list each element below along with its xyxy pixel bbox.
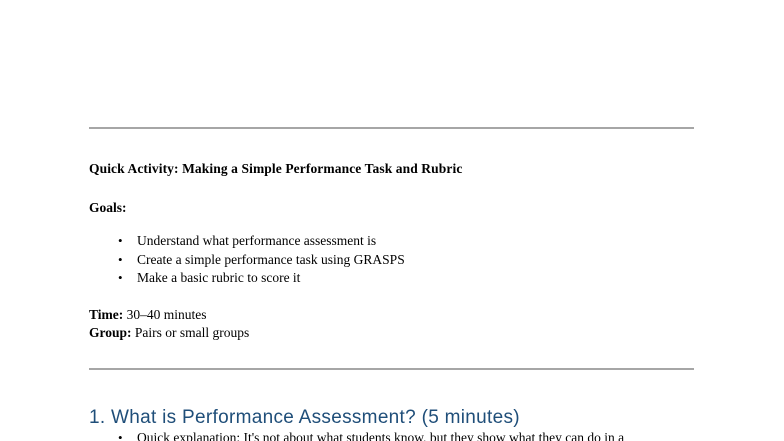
meta-group-value: Pairs or small groups (132, 325, 250, 340)
bullet-icon: • (118, 251, 123, 270)
list-item: • Create a simple performance task using… (89, 251, 709, 270)
page-title: Quick Activity: Making a Simple Performa… (89, 160, 709, 177)
bullet-icon: • (118, 269, 123, 288)
list-item-label: Understand what performance assessment i… (137, 233, 376, 248)
meta-time: Time: 30–40 minutes (89, 306, 709, 324)
goals-list: • Understand what performance assessment… (89, 232, 709, 288)
list-item: • Make a basic rubric to score it (89, 269, 709, 288)
meta-time-label: Time: (89, 307, 123, 322)
meta-group-label: Group: (89, 325, 132, 340)
section-divider (89, 368, 694, 370)
meta-time-value: 30–40 minutes (123, 307, 206, 322)
document-page: Quick Activity: Making a Simple Performa… (0, 0, 784, 441)
list-item: • Quick explanation: It's not about what… (89, 429, 729, 441)
meta-group: Group: Pairs or small groups (89, 324, 709, 342)
bullet-icon: • (118, 429, 123, 441)
list-item-label: Create a simple performance task using G… (137, 252, 405, 267)
goals-label: Goals: (89, 199, 709, 216)
list-item: • Understand what performance assessment… (89, 232, 709, 251)
document-body: Quick Activity: Making a Simple Performa… (89, 160, 709, 342)
clipped-paragraph-text: Quick explanation: It's not about what s… (137, 430, 624, 441)
clipped-paragraph-row: • Quick explanation: It's not about what… (89, 429, 729, 441)
section-heading-1: 1. What is Performance Assessment? (5 mi… (89, 406, 520, 430)
list-item-label: Make a basic rubric to score it (137, 270, 300, 285)
header-divider-top (89, 127, 694, 129)
bullet-icon: • (118, 232, 123, 251)
